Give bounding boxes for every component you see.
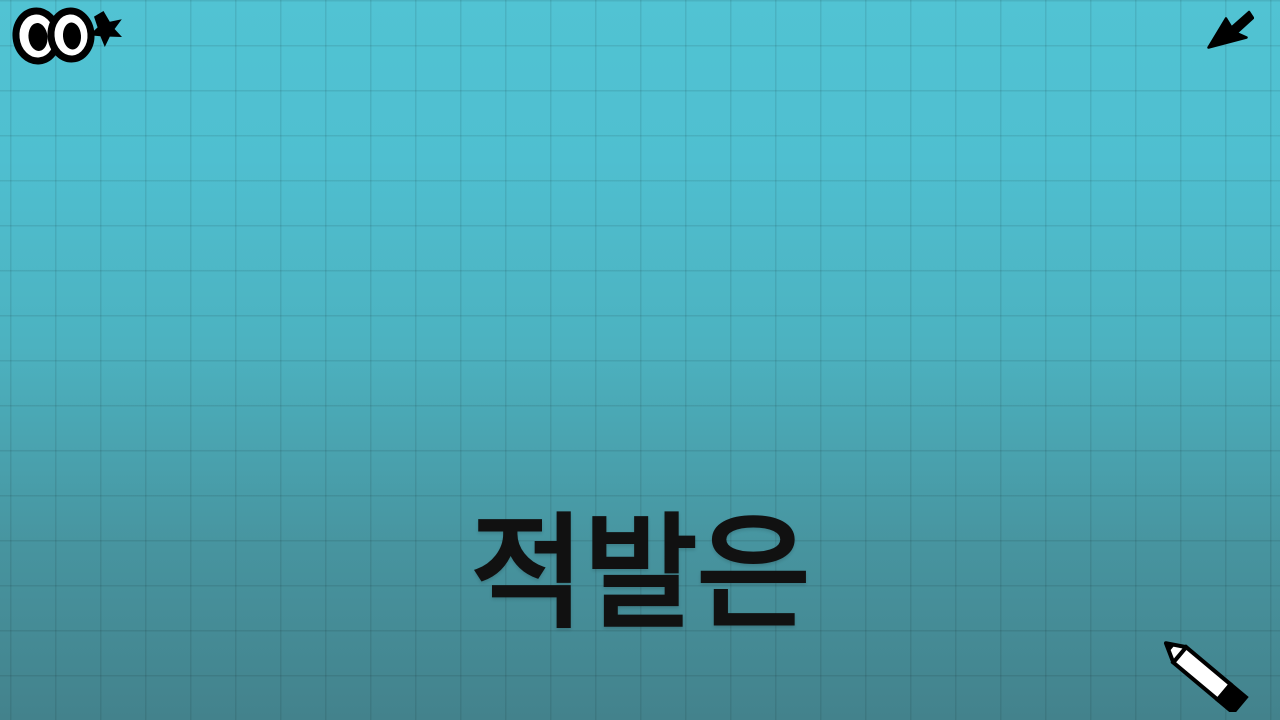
eye-right-icon — [49, 10, 92, 61]
headline-line-1: 적발은 — [0, 499, 1280, 650]
star-icon — [89, 11, 122, 47]
eyes-logo[interactable] — [8, 4, 128, 66]
cursor-arrow-icon[interactable] — [1206, 6, 1254, 50]
page-title: 적발은 어떻게 이루어질까 — [0, 196, 1280, 720]
title-card: 적발은 어떻게 이루어질까 — [0, 0, 1280, 720]
